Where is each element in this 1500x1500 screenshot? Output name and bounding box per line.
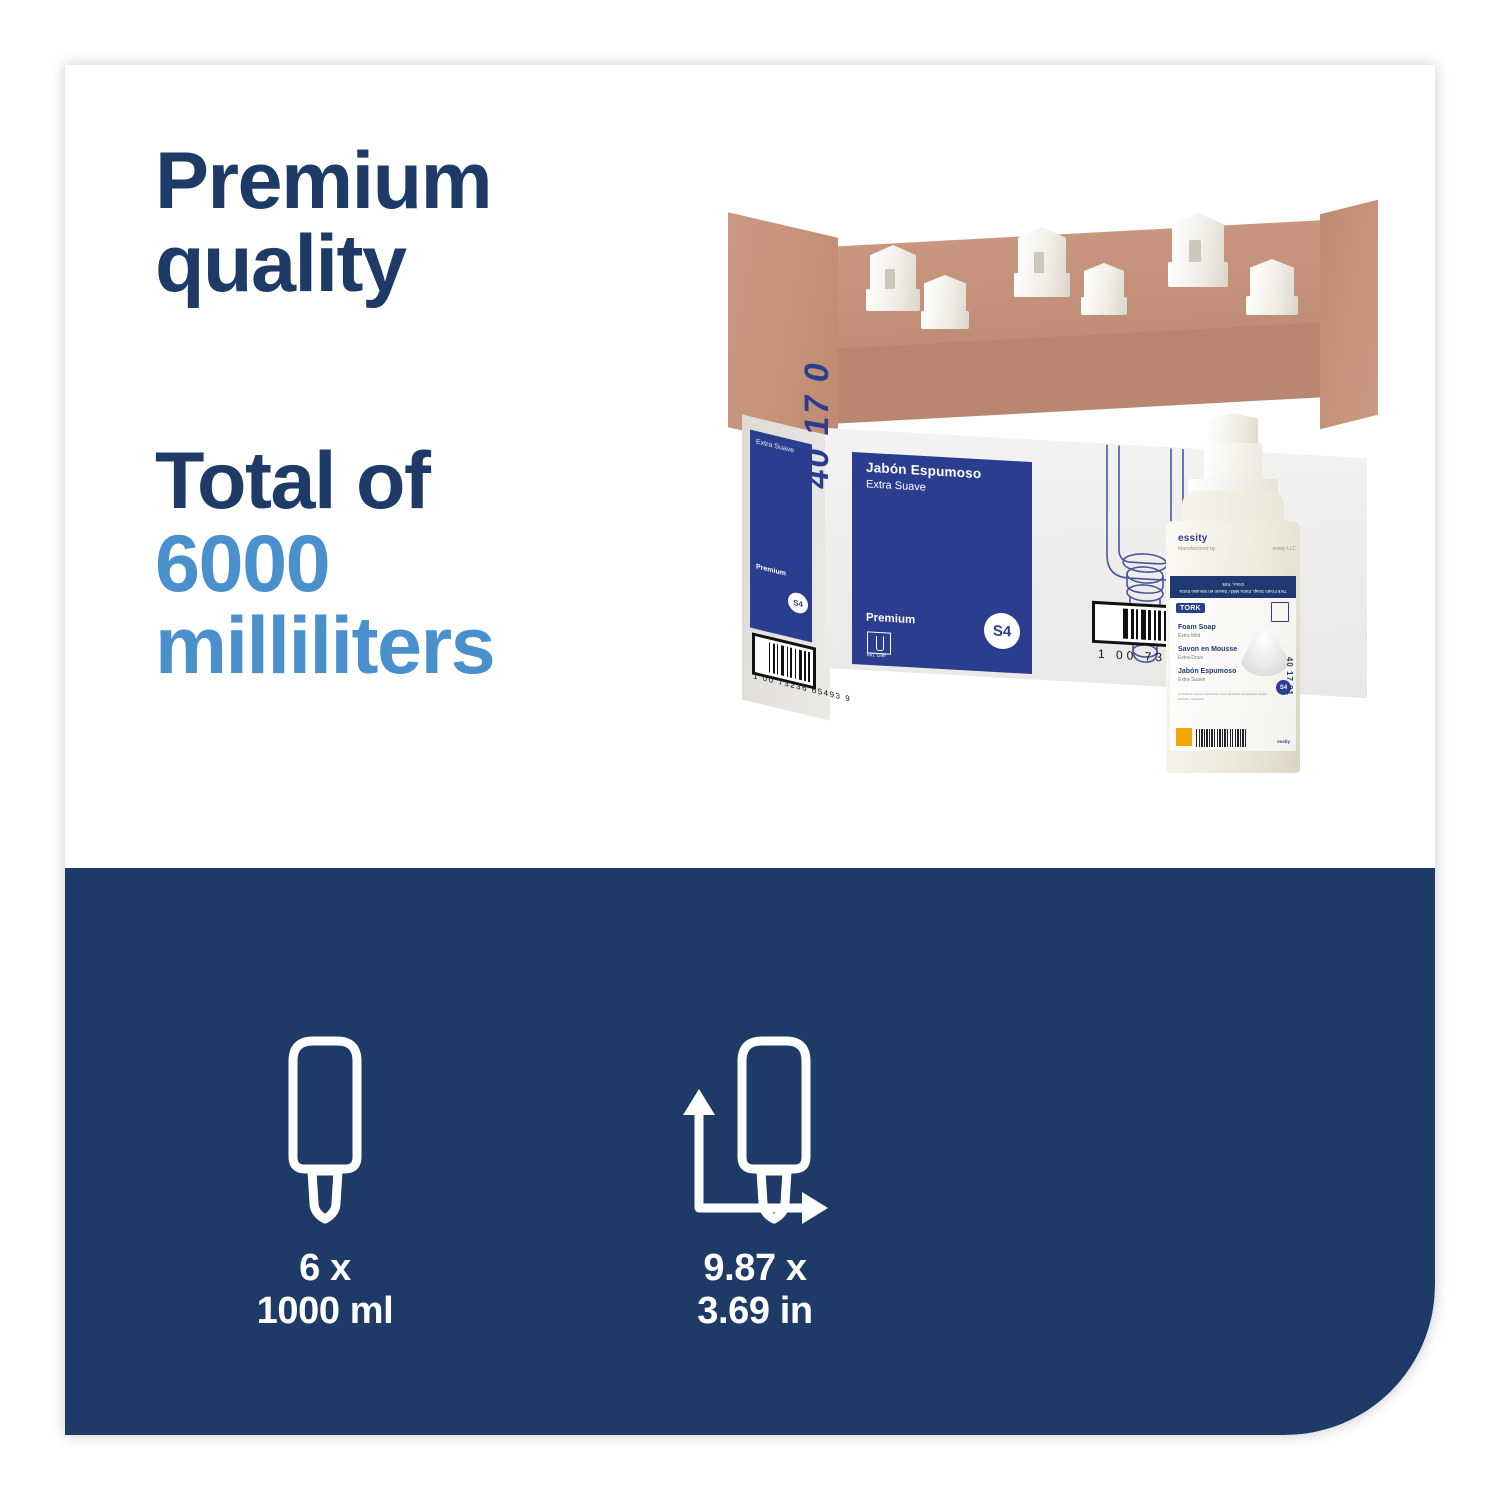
- soap-refill-bottle-icon: [260, 1023, 390, 1233]
- carton-article-number: 40 17 0: [798, 358, 837, 492]
- spec-quantity-caption: 6 x 1000 ml: [225, 1247, 425, 1332]
- product-bottle: essity Manufactured by essity LLC Tork F…: [1158, 413, 1308, 773]
- bottle-variant-es: Extra Suave: [1178, 677, 1205, 683]
- spec-dimensions-art: [655, 1018, 855, 1233]
- pump-cap-icon: [924, 275, 966, 329]
- bottle-article-number: 40 17 01: [1285, 657, 1294, 696]
- bottle-fineprint: ▪▪▪▪▪▪▪▪▪▪▪▪▪ ▪▪▪▪▪▪▪▪ ▪▪▪▪▪▪▪▪▪▪▪▪▪▪ ▪▪…: [1178, 692, 1278, 703]
- bottle-label: Tork Foam Soap, Extra Mild / Savon en Mo…: [1170, 576, 1296, 751]
- pump-cap-icon: [870, 245, 916, 311]
- spec-quantity-line1: 6 x: [225, 1247, 425, 1290]
- bottle-brand-logo: TORK: [1176, 603, 1205, 613]
- bottle-manufacturer-right: essity LLC: [1273, 546, 1296, 552]
- subheadline-unit: milliliters: [155, 605, 625, 688]
- spec-quantity-line2: 1000 ml: [225, 1290, 425, 1333]
- subheadline-quantity: 6000: [155, 523, 625, 606]
- spec-dimensions-caption: 9.87 x 3.69 in: [655, 1247, 855, 1332]
- bottle-manufacturer-line: Manufactured by essity LLC: [1178, 546, 1296, 552]
- bottle-name-fr: Savon en Mousse: [1178, 646, 1237, 653]
- bottle-tier-tag: [1176, 728, 1192, 746]
- pump-cap-icon: [1172, 213, 1224, 287]
- specs-row: 6 x 1000 ml: [225, 1018, 1025, 1332]
- spec-dimensions-line1: 9.87 x: [655, 1247, 855, 1290]
- headline-line-1: Premium: [155, 140, 625, 223]
- headline-line-2: quality: [155, 223, 625, 306]
- product-photo: 40 17 0 Extra Suave Premium S4 Jabón Esp…: [720, 185, 1360, 825]
- bottle-name-es: Jabón Espumoso: [1178, 668, 1236, 675]
- pump-cap-icon: [1018, 227, 1066, 297]
- carton-right-flap: [1320, 200, 1378, 429]
- spec-dimensions: 9.87 x 3.69 in: [655, 1018, 855, 1332]
- headline-block: Premium quality: [155, 140, 625, 305]
- bottle-manufacturer-logo: essity: [1178, 533, 1288, 544]
- bottle-footer-logo: essity: [1277, 739, 1290, 744]
- carton-bottle-pictogram-icon: [867, 631, 891, 654]
- subheadline-line-1: Total of: [155, 440, 625, 523]
- bottle-variant-en: Extra Mild: [1178, 633, 1200, 639]
- foam-swirl-icon: [1240, 624, 1290, 676]
- bottle-variant-fr: Extra-Doux: [1178, 655, 1203, 661]
- upper-panel: Premium quality Total of 6000 milliliter…: [65, 65, 1435, 868]
- product-info-card: Premium quality Total of 6000 milliliter…: [65, 65, 1435, 1435]
- bottle-manufacturer-left: Manufactured by: [1178, 546, 1215, 552]
- pump-cap-icon: [1084, 263, 1124, 315]
- dispenser-icon: [1271, 602, 1289, 622]
- bottle-dimensions-icon: [670, 1023, 840, 1233]
- bottle-label-topbar: Tork Foam Soap, Extra Mild / Savon en Mo…: [1170, 576, 1296, 598]
- spec-dimensions-line2: 3.69 in: [655, 1290, 855, 1333]
- bottle-name-en: Foam Soap: [1178, 624, 1216, 631]
- subheadline-block: Total of 6000 milliliters: [155, 440, 625, 688]
- specs-band: 6 x 1000 ml: [65, 868, 1435, 1435]
- pump-cap-icon: [1250, 259, 1294, 315]
- spec-quantity-art: [225, 1018, 425, 1233]
- bottle-barcode: [1196, 729, 1248, 747]
- spec-quantity: 6 x 1000 ml: [225, 1018, 425, 1332]
